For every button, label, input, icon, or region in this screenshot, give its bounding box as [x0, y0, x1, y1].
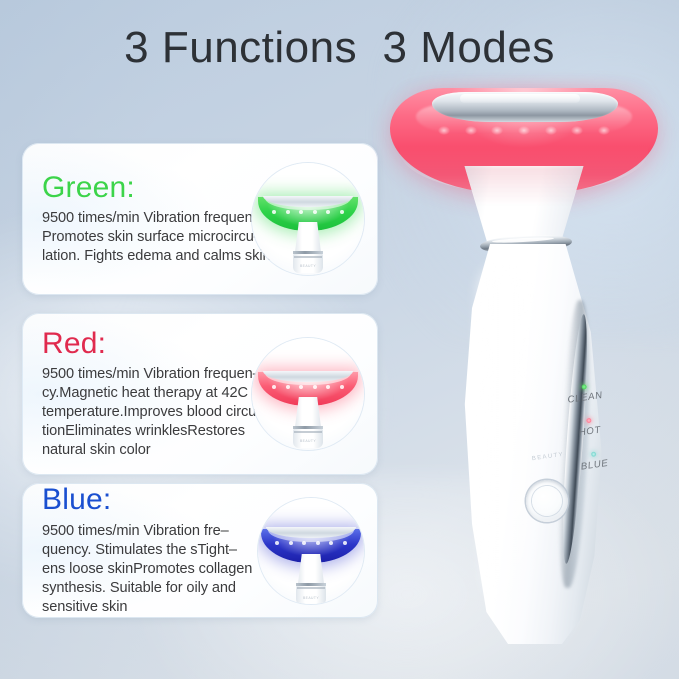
thumbnail-chrome-band [296, 583, 326, 586]
feature-card-blue-heading: Blue: [42, 484, 294, 516]
thumbnail-device-illustration: BEAUTY [256, 342, 360, 446]
product-device-image: BEAUTY CLEAN HOT BLUE [368, 78, 668, 644]
thumbnail-chrome-band-secondary [294, 431, 322, 433]
device-head-metal-highlight [460, 94, 580, 103]
control-hot[interactable]: HOT [546, 412, 632, 443]
feature-card-blue: Blue: 9500 times/min Vibration fre– quen… [22, 483, 378, 618]
device-thumbnail-green: BEAUTY [252, 163, 364, 275]
device-thumbnail-red: BEAUTY [252, 338, 364, 450]
thumbnail-chrome-band [293, 251, 323, 254]
device-head-led-row [438, 122, 610, 138]
thumbnail-led-row [275, 539, 347, 548]
device-thumbnail-blue: BEAUTY [258, 498, 364, 604]
control-blue[interactable]: BLUE [551, 446, 637, 477]
thumbnail-device-illustration: BEAUTY [259, 499, 363, 603]
thumbnail-led-row [272, 382, 344, 391]
thumbnail-brand-mark: BEAUTY [300, 439, 316, 443]
control-label-clean: CLEAN [543, 387, 628, 410]
control-label-hot: HOT [548, 420, 633, 443]
feature-card-green: Green: 9500 times/min Vibration frequenc… [22, 143, 378, 295]
led-indicator-clean [581, 384, 587, 390]
thumbnail-chrome-band-secondary [294, 256, 322, 258]
device-handle-highlight [480, 264, 532, 604]
device-neck-glow-cast [462, 166, 586, 206]
power-button-inner [531, 485, 564, 518]
device-handle: BEAUTY CLEAN HOT BLUE [436, 244, 616, 644]
infographic-canvas: 3 Functions 3 Modes Green: 9500 times/mi… [0, 0, 679, 679]
thumbnail-brand-mark: BEAUTY [300, 264, 316, 268]
thumbnail-led-row [272, 207, 344, 216]
device-control-panel: CLEAN HOT BLUE [542, 379, 639, 486]
thumbnail-brand-mark: BEAUTY [303, 596, 319, 600]
control-label-blue: BLUE [552, 454, 637, 477]
thumbnail-device-illustration: BEAUTY [256, 167, 360, 271]
feature-card-blue-body: Blue: 9500 times/min Vibration fre– quen… [42, 483, 294, 618]
feature-card-blue-text: 9500 times/min Vibration fre– quency. St… [42, 522, 294, 617]
page-title: 3 Functions 3 Modes [0, 24, 679, 72]
thumbnail-chrome-band-secondary [297, 587, 325, 589]
thumbnail-chrome-band [293, 426, 323, 429]
led-indicator-hot [586, 418, 592, 424]
led-indicator-blue [590, 451, 596, 457]
feature-card-red: Red: 9500 times/min Vibration frequen– c… [22, 313, 378, 475]
